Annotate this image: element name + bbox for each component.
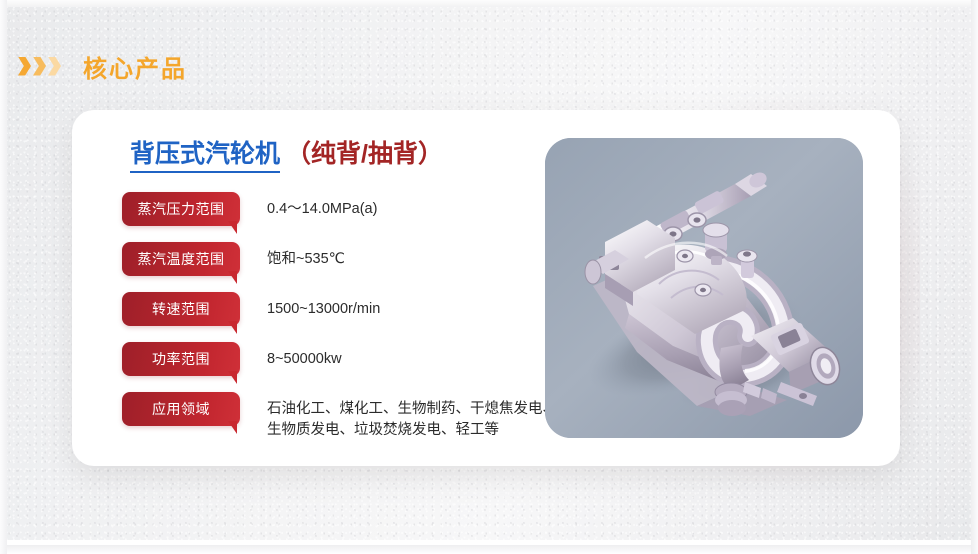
- spec-label-text: 转速范围: [152, 299, 210, 319]
- double-chevron-right-icon: [18, 57, 61, 76]
- spec-row: 转速范围 1500~13000r/min: [122, 292, 582, 328]
- badge-tail-icon: [228, 221, 237, 234]
- chevron-right-icon-1: [18, 57, 31, 76]
- section-title: 核心产品: [83, 49, 187, 84]
- turbine-3d-render: [545, 138, 863, 438]
- product-title-main: 背压式汽轮机: [130, 140, 280, 173]
- chevron-right-icon-3: [48, 57, 61, 76]
- product-title: 背压式汽轮机（纯背/抽背）: [130, 142, 443, 167]
- spec-label-badge: 蒸汽压力范围: [122, 192, 240, 226]
- spec-label-text: 功率范围: [152, 349, 210, 369]
- spec-list: 蒸汽压力范围 0.4～14.0MPa(a) 蒸汽温度范围 饱和~535℃ 转速范…: [122, 192, 582, 441]
- product-card: 背压式汽轮机（纯背/抽背） 蒸汽压力范围 0.4～14.0MPa(a) 蒸汽温度…: [72, 110, 900, 466]
- badge-tail-icon: [228, 271, 237, 284]
- spec-value-text: 饱和~535℃: [267, 242, 582, 270]
- slide-frame-bottom: [0, 545, 978, 554]
- section-header: 核心产品: [18, 46, 187, 86]
- slide-frame-left: [0, 0, 7, 554]
- badge-tail-icon: [228, 321, 237, 334]
- spec-row: 应用领域 石油化工、煤化工、生物制药、干熄焦发电、 生物质发电、垃圾焚烧发电、轻…: [122, 392, 582, 441]
- spec-value-text: 8~50000kw: [267, 342, 582, 370]
- slide-frame-top: [0, 0, 978, 7]
- spec-row: 功率范围 8~50000kw: [122, 342, 582, 378]
- spec-value-text: 0.4～14.0MPa(a): [267, 192, 582, 220]
- product-title-sub: （纯背/抽背）: [286, 140, 443, 168]
- spec-label-badge: 蒸汽温度范围: [122, 242, 240, 276]
- spec-label-text: 蒸汽压力范围: [138, 199, 225, 219]
- chevron-right-icon-2: [33, 57, 46, 76]
- spec-row: 蒸汽温度范围 饱和~535℃: [122, 242, 582, 278]
- slide-frame-right: [971, 0, 978, 554]
- spec-label-text: 应用领域: [152, 399, 210, 419]
- spec-label-badge: 功率范围: [122, 342, 240, 376]
- slide-canvas: 核心产品 背压式汽轮机（纯背/抽背） 蒸汽压力范围 0.4～14.0MPa(a)…: [0, 0, 978, 554]
- badge-tail-icon: [228, 421, 237, 434]
- badge-tail-icon: [228, 371, 237, 384]
- spec-row: 蒸汽压力范围 0.4～14.0MPa(a): [122, 192, 582, 228]
- spec-value-text: 石油化工、煤化工、生物制药、干熄焦发电、 生物质发电、垃圾焚烧发电、轻工等: [267, 392, 582, 441]
- product-image: [545, 138, 863, 438]
- spec-label-badge: 转速范围: [122, 292, 240, 326]
- spec-label-text: 蒸汽温度范围: [138, 249, 225, 269]
- spec-value-text: 1500~13000r/min: [267, 292, 582, 320]
- spec-label-badge: 应用领域: [122, 392, 240, 426]
